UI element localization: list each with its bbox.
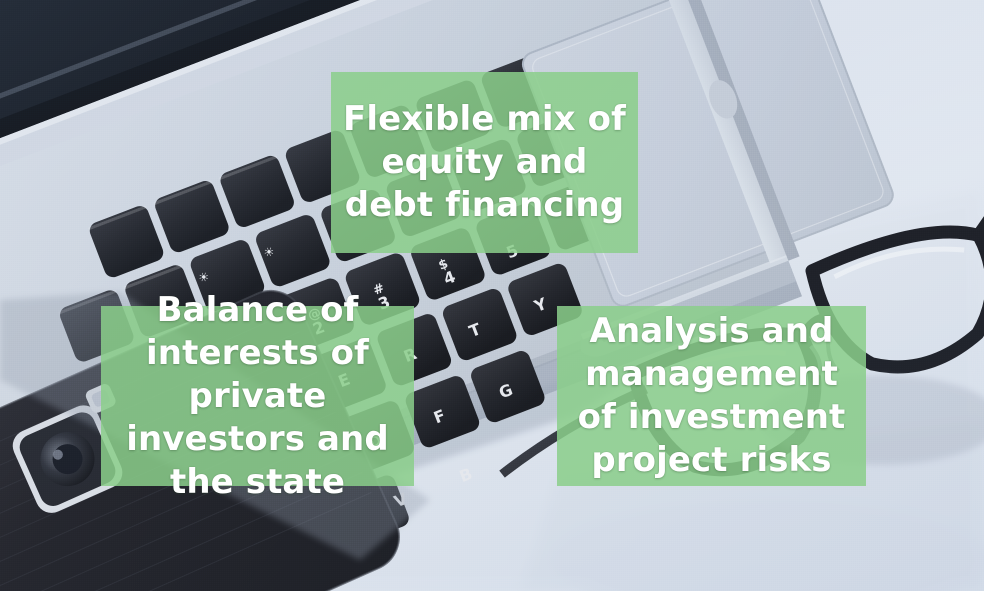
callout-panel-flexible-financing[interactable]: Flexible mix of equity and debt financin… xyxy=(331,72,638,253)
callout-text-risk-analysis: Analysis and management of investment pr… xyxy=(557,310,866,482)
callout-panel-risk-analysis[interactable]: Analysis and management of investment pr… xyxy=(557,306,866,486)
slide-canvas: esc ~ ` ! 1 @ 2 # 3 $ 4 5 tab Q W E R xyxy=(0,0,984,591)
callout-panel-balance-of-interests[interactable]: Balance of interests of private investor… xyxy=(101,306,414,486)
callout-text-flexible-financing: Flexible mix of equity and debt financin… xyxy=(331,98,638,227)
callout-text-balance-of-interests: Balance of interests of private investor… xyxy=(101,289,414,504)
